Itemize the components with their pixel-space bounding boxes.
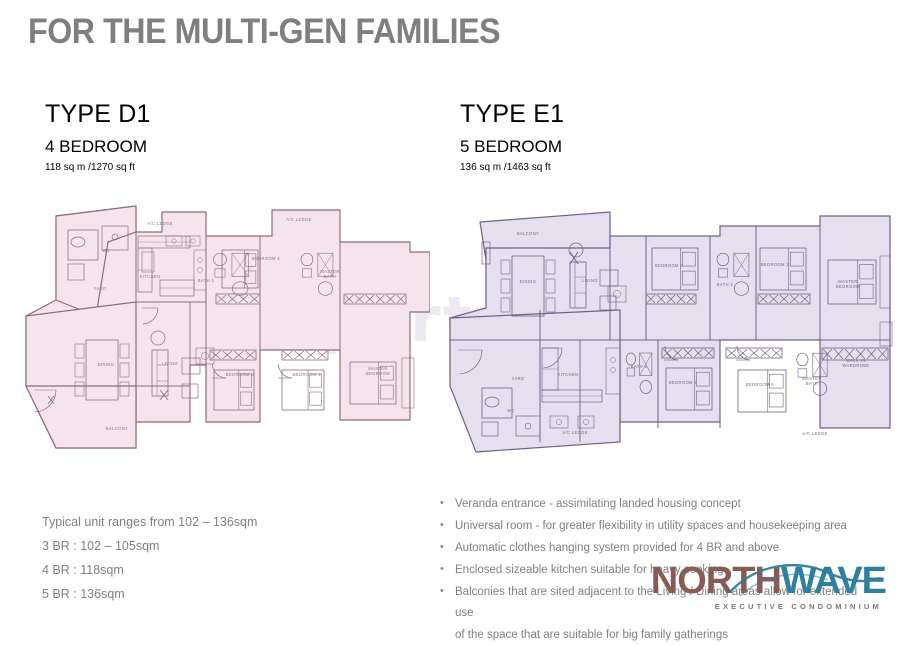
brand-logo: NORTHWAVE EXECUTIVE CONDOMINIUM — [651, 562, 886, 611]
plan-type-label-d1: TYPE D1 — [45, 100, 151, 128]
room-label: MASTERBATH — [802, 376, 821, 386]
plan-type-label-e1: TYPE E1 — [460, 100, 564, 128]
room-label: BEDROOM 4 — [252, 256, 280, 261]
floor-plan-e1-drawing: BALCONYDININGLIVINGBEDROOM 3BATH 2BEDROO… — [420, 190, 900, 465]
room-label: BEDROOM 3 — [655, 263, 683, 268]
brand-word-north: NORTH — [651, 560, 781, 602]
room-label: DINING — [520, 279, 537, 284]
room-label: BALCONY — [517, 231, 539, 236]
brand-wordmark: NORTHWAVE — [651, 562, 886, 600]
unit-range-item: 5 BR : 136sqm — [42, 582, 257, 606]
room-label: MASTERBEDROOM — [366, 366, 390, 376]
room-label: KITCHEN — [558, 372, 579, 377]
feature-item: Universal room - for greater flexibility… — [437, 516, 867, 537]
room-label: DINING — [98, 362, 115, 367]
room-label: YARD — [512, 376, 525, 381]
room-label: BEDROOM 2 — [293, 372, 321, 377]
floor-plan-e1: BALCONYDININGLIVINGBEDROOM 3BATH 2BEDROO… — [420, 190, 900, 465]
brand-word-wave: WAVE — [781, 560, 886, 602]
unit-range-item: 3 BR : 102 – 105sqm — [42, 534, 257, 558]
room-label: BATH 2 — [717, 282, 734, 287]
floor-plan-d1: WCYARDKITCHENA/C LEDGEBATH 2BEDROOM 4MAS… — [10, 190, 430, 465]
room-label: BEDROOM 2 — [761, 262, 789, 267]
brand-tagline: EXECUTIVE CONDOMINIUM — [651, 602, 882, 611]
room-label: WALK-INWARDROBE — [842, 358, 869, 368]
room-label: A/C LEDGE — [147, 221, 172, 226]
room-label: LIVING — [582, 278, 598, 283]
feature-item: Automatic clothes hanging system provide… — [437, 538, 867, 559]
room-label: MASTERBEDROOM — [836, 279, 860, 289]
plan-bedrooms-label-d1: 4 BEDROOM — [45, 136, 151, 157]
room-label: WC — [507, 408, 515, 413]
plan-area-label-e1: 136 sq m /1463 sq ft — [460, 161, 564, 175]
page-title: FOR THE MULTI-GEN FAMILIES — [28, 12, 500, 52]
unit-range-item: 4 BR : 118sqm — [42, 558, 257, 582]
room-label: BALCONY — [106, 426, 128, 431]
room-label: YARD — [94, 286, 107, 291]
floor-plan-d1-drawing: WCYARDKITCHENA/C LEDGEBATH 2BEDROOM 4MAS… — [10, 190, 430, 465]
feature-item: Veranda entrance - assimilating landed h… — [437, 494, 867, 515]
unit-range-heading: Typical unit ranges from 102 – 136sqm — [42, 510, 257, 534]
room-label: BATH 3 — [631, 364, 648, 369]
plan-area-label-d1: 118 sq m /1270 sq ft — [45, 161, 151, 175]
feature-item-continuation: of the space that are suitable for big f… — [437, 625, 867, 645]
plan-header-e1: TYPE E1 5 BEDROOM 136 sq m /1463 sq ft — [460, 100, 564, 175]
unit-range-block: Typical unit ranges from 102 – 136sqm 3 … — [42, 510, 257, 606]
room-label: LIVING — [162, 361, 178, 366]
room-label: WC — [102, 248, 110, 253]
room-label: A/C LEDGE — [802, 431, 827, 436]
room-label: BEDROOM 4 — [669, 380, 697, 385]
room-label: BATH 2 — [198, 278, 215, 283]
room-label: BEDROOM 3 — [226, 372, 254, 377]
plan-bedrooms-label-e1: 5 BEDROOM — [460, 136, 564, 157]
plan-header-d1: TYPE D1 4 BEDROOM 118 sq m /1270 sq ft — [45, 100, 151, 175]
room-label: KITCHEN — [140, 274, 161, 279]
room-label: A/C LEDGE — [286, 217, 311, 222]
room-label: BEDROOM 5 — [746, 382, 774, 387]
room-label: A/C LEDGE — [562, 430, 587, 435]
